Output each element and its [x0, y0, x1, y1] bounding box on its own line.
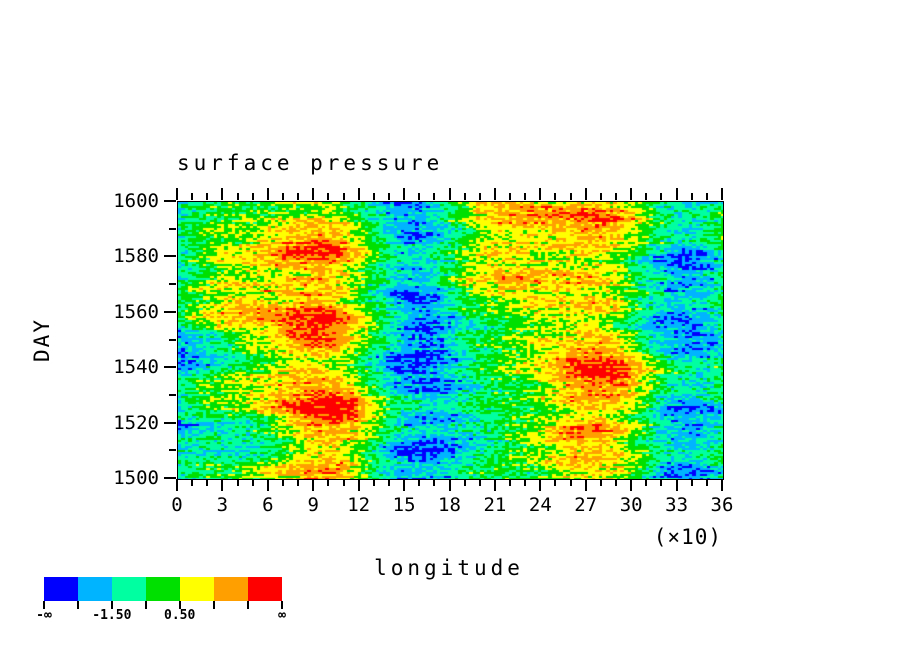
x-minor-tick: [706, 479, 708, 486]
x-minor-tick: [418, 479, 420, 486]
x-minor-tick-top: [706, 193, 708, 200]
x-minor-tick: [509, 479, 511, 486]
colorbar-label: -∞: [36, 608, 52, 623]
x-minor-tick: [600, 479, 602, 486]
x-minor-tick-top: [691, 193, 693, 200]
colorbar-swatch: [44, 577, 78, 601]
colorbar-label: ∞: [278, 608, 286, 623]
colorbar-swatch: [214, 577, 248, 601]
x-minor-tick-top: [297, 193, 299, 200]
y-axis-title: DAY: [30, 318, 54, 362]
x-minor-tick: [524, 479, 526, 486]
y-tick-label: 1500: [113, 467, 159, 489]
x-minor-tick-top: [252, 193, 254, 200]
x-tick-label: 12: [347, 494, 370, 516]
x-minor-tick-top: [282, 193, 284, 200]
x-minor-tick: [388, 479, 390, 486]
x-axis-multiplier-note: (×10): [654, 525, 722, 549]
x-tick-label: 0: [171, 494, 182, 516]
x-minor-tick: [464, 479, 466, 486]
colorbar-label: -1.50: [92, 608, 131, 623]
x-major-tick: [358, 479, 360, 491]
y-minor-tick: [169, 228, 176, 230]
y-major-tick: [164, 200, 176, 202]
colorbar-swatches: [44, 577, 282, 601]
x-major-tick: [721, 479, 723, 491]
x-major-tick-top: [267, 188, 269, 200]
y-major-tick: [164, 477, 176, 479]
x-major-tick: [221, 479, 223, 491]
x-minor-tick-top: [327, 193, 329, 200]
x-minor-tick: [297, 479, 299, 486]
y-tick-label: 1560: [113, 301, 159, 323]
x-minor-tick-top: [600, 193, 602, 200]
x-tick-label: 21: [483, 494, 506, 516]
colorbar-tick: [213, 601, 215, 609]
x-major-tick: [676, 479, 678, 491]
colorbar-swatch: [248, 577, 282, 601]
x-major-tick: [312, 479, 314, 491]
y-major-tick: [164, 255, 176, 257]
y-tick-label: 1520: [113, 412, 159, 434]
x-major-tick-top: [312, 188, 314, 200]
x-major-tick-top: [494, 188, 496, 200]
x-tick-label: 24: [529, 494, 552, 516]
x-minor-tick: [554, 479, 556, 486]
x-minor-tick: [343, 479, 345, 486]
x-tick-label: 27: [574, 494, 597, 516]
x-minor-tick-top: [479, 193, 481, 200]
x-major-tick-top: [721, 188, 723, 200]
chart-title: surface pressure: [177, 151, 443, 175]
colorbar-label: 0.50: [164, 608, 195, 623]
y-minor-tick: [169, 339, 176, 341]
x-tick-label: 18: [438, 494, 461, 516]
x-tick-label: 6: [262, 494, 273, 516]
x-minor-tick-top: [645, 193, 647, 200]
y-minor-tick: [169, 394, 176, 396]
x-minor-tick: [282, 479, 284, 486]
colorbar-tick: [247, 601, 249, 609]
colorbar-tick: [145, 601, 147, 609]
x-major-tick: [585, 479, 587, 491]
x-major-tick-top: [630, 188, 632, 200]
colorbar: [44, 577, 282, 601]
x-minor-tick-top: [524, 193, 526, 200]
x-major-tick-top: [403, 188, 405, 200]
x-major-tick-top: [539, 188, 541, 200]
x-minor-tick: [252, 479, 254, 486]
x-axis-title: longitude: [374, 556, 524, 580]
x-minor-tick: [433, 479, 435, 486]
x-tick-label: 36: [711, 494, 734, 516]
x-major-tick: [494, 479, 496, 491]
x-minor-tick-top: [554, 193, 556, 200]
x-tick-label: 3: [217, 494, 228, 516]
x-minor-tick-top: [343, 193, 345, 200]
x-minor-tick-top: [660, 193, 662, 200]
x-minor-tick-top: [464, 193, 466, 200]
colorbar-swatch: [112, 577, 146, 601]
x-major-tick: [449, 479, 451, 491]
x-minor-tick-top: [191, 193, 193, 200]
x-tick-label: 9: [308, 494, 319, 516]
x-minor-tick-top: [433, 193, 435, 200]
x-minor-tick: [570, 479, 572, 486]
x-tick-label: 33: [665, 494, 688, 516]
x-major-tick-top: [449, 188, 451, 200]
chart-page: surface pressure 0369121518212427303336 …: [0, 0, 904, 654]
x-minor-tick: [237, 479, 239, 486]
x-minor-tick-top: [509, 193, 511, 200]
x-minor-tick-top: [237, 193, 239, 200]
x-minor-tick: [691, 479, 693, 486]
y-tick-label: 1540: [113, 356, 159, 378]
x-major-tick: [267, 479, 269, 491]
x-major-tick-top: [676, 188, 678, 200]
x-major-tick: [403, 479, 405, 491]
y-minor-tick: [169, 449, 176, 451]
x-minor-tick: [479, 479, 481, 486]
x-minor-tick-top: [615, 193, 617, 200]
colorbar-tick: [77, 601, 79, 609]
x-tick-label: 30: [620, 494, 643, 516]
heatmap-canvas: [178, 202, 723, 479]
plot-area: [177, 201, 724, 480]
x-minor-tick: [206, 479, 208, 486]
x-major-tick-top: [358, 188, 360, 200]
x-major-tick: [539, 479, 541, 491]
x-minor-tick: [615, 479, 617, 486]
colorbar-swatch: [146, 577, 180, 601]
x-minor-tick: [645, 479, 647, 486]
y-minor-tick: [169, 283, 176, 285]
x-minor-tick-top: [388, 193, 390, 200]
colorbar-swatch: [180, 577, 214, 601]
y-tick-label: 1600: [113, 190, 159, 212]
x-major-tick-top: [585, 188, 587, 200]
x-minor-tick-top: [373, 193, 375, 200]
x-major-tick-top: [221, 188, 223, 200]
y-major-tick: [164, 311, 176, 313]
x-minor-tick: [327, 479, 329, 486]
x-minor-tick-top: [206, 193, 208, 200]
x-minor-tick: [373, 479, 375, 486]
x-minor-tick-top: [570, 193, 572, 200]
x-major-tick-top: [176, 188, 178, 200]
x-minor-tick: [660, 479, 662, 486]
x-minor-tick-top: [418, 193, 420, 200]
x-major-tick: [630, 479, 632, 491]
y-major-tick: [164, 366, 176, 368]
y-major-tick: [164, 422, 176, 424]
y-tick-label: 1580: [113, 245, 159, 267]
x-minor-tick: [191, 479, 193, 486]
colorbar-swatch: [78, 577, 112, 601]
x-tick-label: 15: [393, 494, 416, 516]
x-major-tick: [176, 479, 178, 491]
